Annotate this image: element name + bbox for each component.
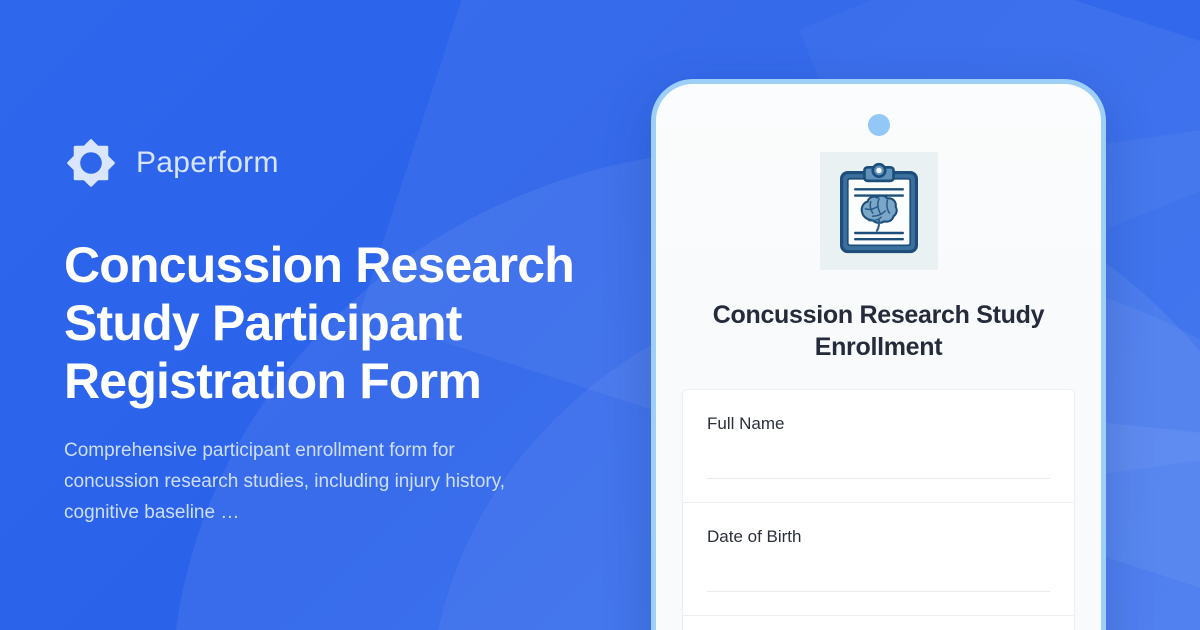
form-field-date-of-birth[interactable]: Date of Birth bbox=[682, 502, 1075, 615]
field-input-underline[interactable] bbox=[707, 478, 1050, 479]
phone-mockup: Concussion Research Study Enrollment Ful… bbox=[651, 79, 1106, 630]
page-description: Comprehensive participant enrollment for… bbox=[64, 436, 544, 528]
field-label: Full Name bbox=[707, 414, 1050, 434]
hero-left-column: Paperform Concussion Research Study Part… bbox=[64, 136, 624, 528]
paperform-star-logo-icon bbox=[64, 136, 118, 190]
clipboard-brain-icon bbox=[820, 152, 938, 270]
field-label: Date of Birth bbox=[707, 527, 1050, 547]
page-title: Concussion Research Study Participant Re… bbox=[64, 236, 604, 410]
social-preview-canvas: Paperform Concussion Research Study Part… bbox=[0, 0, 1200, 630]
brand-lockup: Paperform bbox=[64, 136, 624, 190]
form-field-list: Full Name Date of Birth bbox=[682, 389, 1075, 630]
camera-dot-icon bbox=[868, 114, 890, 136]
brand-name: Paperform bbox=[136, 146, 279, 180]
form-field-full-name[interactable]: Full Name bbox=[682, 389, 1075, 502]
phone-screen: Concussion Research Study Enrollment Ful… bbox=[656, 84, 1101, 630]
form-field-next[interactable] bbox=[682, 615, 1075, 630]
field-input-underline[interactable] bbox=[707, 591, 1050, 592]
form-heading: Concussion Research Study Enrollment bbox=[682, 299, 1075, 363]
